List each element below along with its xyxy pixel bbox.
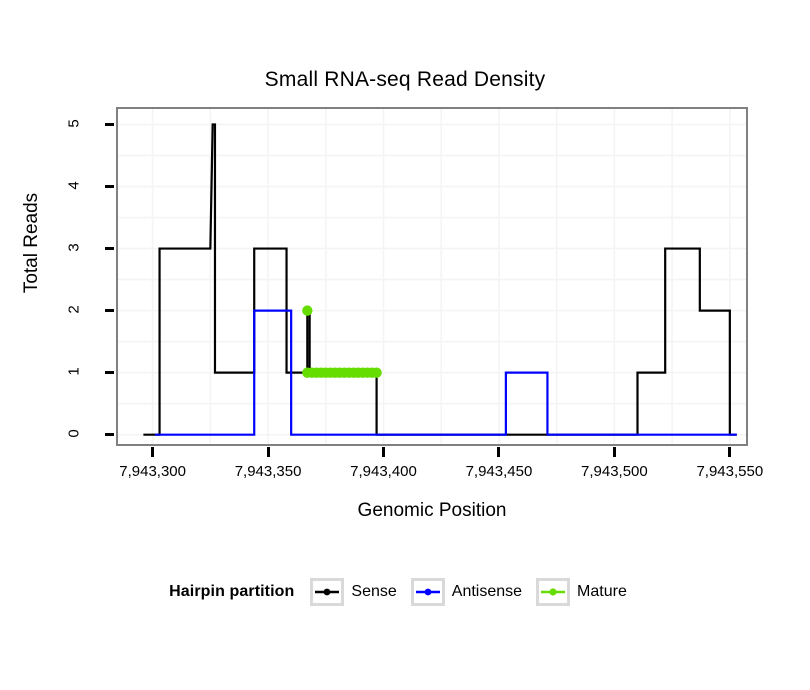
x-tick-label: 7,943,500 bbox=[554, 463, 674, 480]
x-tick-mark bbox=[613, 447, 616, 457]
y-axis-title: Total Reads bbox=[21, 148, 43, 338]
y-tick-label: 1 bbox=[66, 351, 83, 391]
legend-item-sense[interactable]: Sense bbox=[310, 578, 396, 606]
y-tick-mark bbox=[105, 371, 114, 374]
y-tick-mark bbox=[105, 185, 114, 188]
x-tick-label: 7,943,450 bbox=[439, 463, 559, 480]
y-tick-label: 4 bbox=[66, 165, 83, 205]
plot-panel bbox=[116, 107, 748, 446]
x-tick-mark bbox=[382, 447, 385, 457]
x-tick-label: 7,943,350 bbox=[208, 463, 328, 480]
y-tick-label: 5 bbox=[66, 103, 83, 143]
y-tick-mark bbox=[105, 247, 114, 250]
legend-item-antisense[interactable]: Antisense bbox=[411, 578, 522, 606]
legend: Hairpin partition Sense Antisense bbox=[0, 578, 810, 606]
y-tick-mark bbox=[105, 309, 114, 312]
legend-title: Hairpin partition bbox=[169, 583, 294, 601]
line-point-icon bbox=[540, 584, 566, 600]
x-tick-label: 7,943,550 bbox=[670, 463, 790, 480]
legend-key-antisense bbox=[411, 578, 445, 606]
legend-label-mature: Mature bbox=[577, 583, 627, 601]
line-point-icon bbox=[314, 584, 340, 600]
legend-label-sense: Sense bbox=[351, 583, 396, 601]
x-tick-mark bbox=[728, 447, 731, 457]
y-tick-label: 3 bbox=[66, 227, 83, 267]
legend-key-sense bbox=[310, 578, 344, 606]
x-tick-mark bbox=[151, 447, 154, 457]
x-axis-title: Genomic Position bbox=[116, 500, 748, 522]
legend-label-antisense: Antisense bbox=[452, 583, 522, 601]
y-tick-mark bbox=[105, 433, 114, 436]
x-tick-label: 7,943,400 bbox=[324, 463, 444, 480]
y-tick-label: 0 bbox=[66, 413, 83, 453]
x-tick-mark bbox=[267, 447, 270, 457]
legend-key-mature bbox=[536, 578, 570, 606]
x-tick-label: 7,943,300 bbox=[93, 463, 213, 480]
page-title: Small RNA-seq Read Density bbox=[0, 68, 810, 92]
chart-canvas: Small RNA-seq Read Density Total Reads G… bbox=[0, 0, 810, 690]
x-tick-mark bbox=[497, 447, 500, 457]
legend-item-mature[interactable]: Mature bbox=[536, 578, 627, 606]
y-tick-mark bbox=[105, 123, 114, 126]
plot-series-layer bbox=[118, 109, 746, 444]
line-point-icon bbox=[415, 584, 441, 600]
y-tick-label: 2 bbox=[66, 289, 83, 329]
